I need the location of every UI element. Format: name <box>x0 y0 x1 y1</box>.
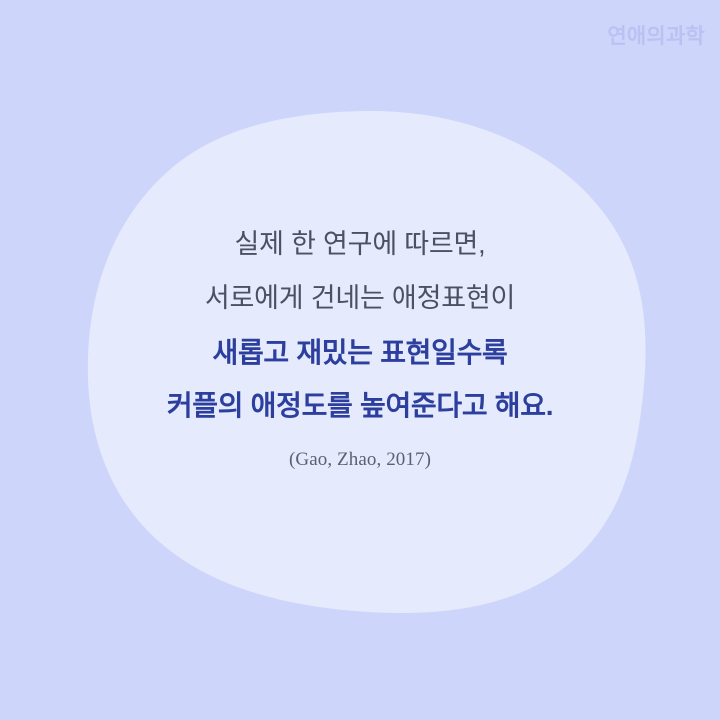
quote-card: 연애의과학 실제 한 연구에 따르면, 서로에게 건네는 애정표현이 새롭고 재… <box>0 0 720 720</box>
quote-block: 실제 한 연구에 따르면, 서로에게 건네는 애정표현이 새롭고 재밌는 표현일… <box>0 231 720 471</box>
quote-line-4-emphasis: 커플의 애정도를 높여준다고 해요. <box>0 392 720 420</box>
citation-reference: (Gao, Zhao, 2017) <box>0 449 720 471</box>
quote-line-2: 서로에게 건네는 애정표현이 <box>0 285 720 312</box>
quote-line-1: 실제 한 연구에 따르면, <box>0 231 720 258</box>
quote-line-3-emphasis: 새롭고 재밌는 표현일수록 <box>0 339 720 367</box>
brand-logo: 연애의과학 <box>607 26 705 47</box>
